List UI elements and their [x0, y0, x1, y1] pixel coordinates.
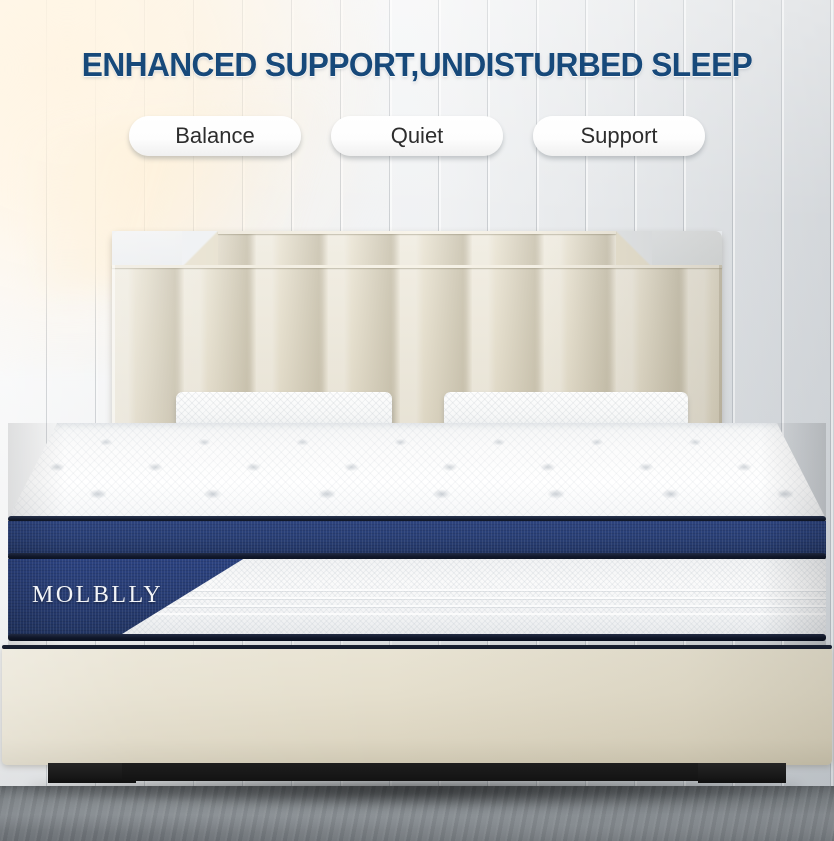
bed-leg-right — [698, 763, 786, 783]
badge-balance[interactable]: Balance — [129, 116, 301, 156]
mattress-quilted-dimples — [8, 423, 826, 519]
bed-base — [2, 645, 832, 782]
bed-floor-shadow — [30, 780, 800, 806]
bed-base-under-rail — [122, 763, 714, 781]
feature-badge-row: Balance Quiet Support — [0, 116, 834, 156]
bed-base-top-edge — [2, 645, 832, 649]
mattress-piping-lower — [8, 634, 826, 641]
badge-support[interactable]: Support — [533, 116, 705, 156]
brand-logo: MOLBLLY — [32, 582, 163, 609]
mattress — [8, 423, 826, 645]
page-title: ENHANCED SUPPORT,UNDISTURBED SLEEP — [17, 46, 818, 84]
mattress-navy-band-texture — [8, 521, 826, 555]
product-advertisement-image: ENHANCED SUPPORT,UNDISTURBED SLEEP Balan… — [0, 0, 834, 841]
badge-quiet[interactable]: Quiet — [331, 116, 503, 156]
bed-base-sheen — [2, 645, 832, 765]
